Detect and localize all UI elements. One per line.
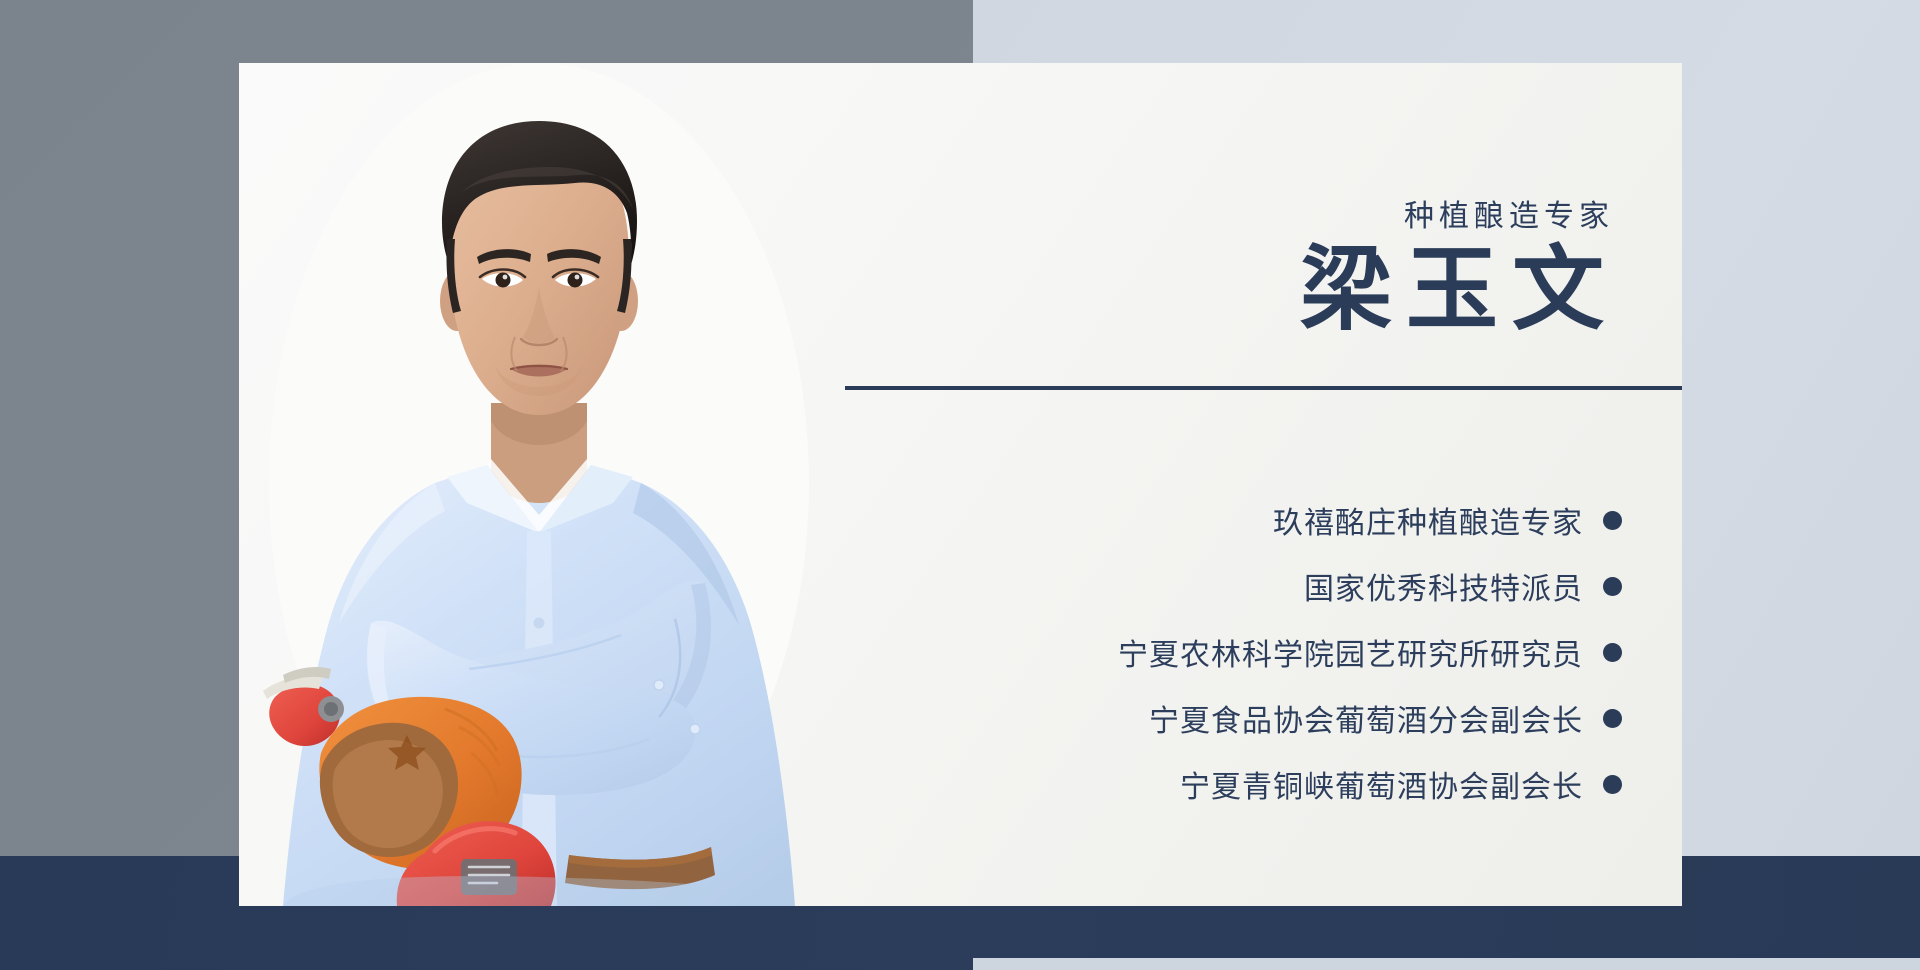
- page-title: 梁玉文: [1300, 241, 1618, 340]
- list-item: 玖禧酩庄种植酿造专家: [1273, 487, 1622, 553]
- bullet-dot-icon: [1603, 577, 1622, 596]
- portrait-photo: [239, 63, 839, 906]
- credential-text: 宁夏食品协会葡萄酒分会副会长: [1149, 696, 1583, 740]
- background-strip-bottom-right: [973, 958, 1920, 970]
- bullet-dot-icon: [1603, 775, 1622, 794]
- divider-line: [845, 386, 1682, 390]
- profile-card: 种植酿造专家 梁玉文 玖禧酩庄种植酿造专家 国家优秀科技特派员 宁夏农林科学院园…: [239, 63, 1682, 906]
- credential-text: 宁夏青铜峡葡萄酒协会副会长: [1180, 762, 1583, 806]
- credential-text: 玖禧酩庄种植酿造专家: [1273, 498, 1583, 542]
- bullet-dot-icon: [1603, 709, 1622, 728]
- profile-text-block: 种植酿造专家 梁玉文 玖禧酩庄种植酿造专家 国家优秀科技特派员 宁夏农林科学院园…: [939, 63, 1682, 906]
- bullet-dot-icon: [1603, 511, 1622, 530]
- credential-text: 国家优秀科技特派员: [1304, 564, 1583, 608]
- credentials-list: 玖禧酩庄种植酿造专家 国家优秀科技特派员 宁夏农林科学院园艺研究所研究员 宁夏食…: [932, 487, 1622, 817]
- credential-text: 宁夏农林科学院园艺研究所研究员: [1118, 630, 1583, 674]
- list-item: 国家优秀科技特派员: [1304, 553, 1622, 619]
- list-item: 宁夏食品协会葡萄酒分会副会长: [1149, 685, 1622, 751]
- list-item: 宁夏农林科学院园艺研究所研究员: [1118, 619, 1622, 685]
- profile-subtitle: 种植酿造专家: [1404, 191, 1614, 235]
- divider: [845, 381, 1682, 395]
- list-item: 宁夏青铜峡葡萄酒协会副会长: [1180, 751, 1622, 817]
- bullet-dot-icon: [1603, 643, 1622, 662]
